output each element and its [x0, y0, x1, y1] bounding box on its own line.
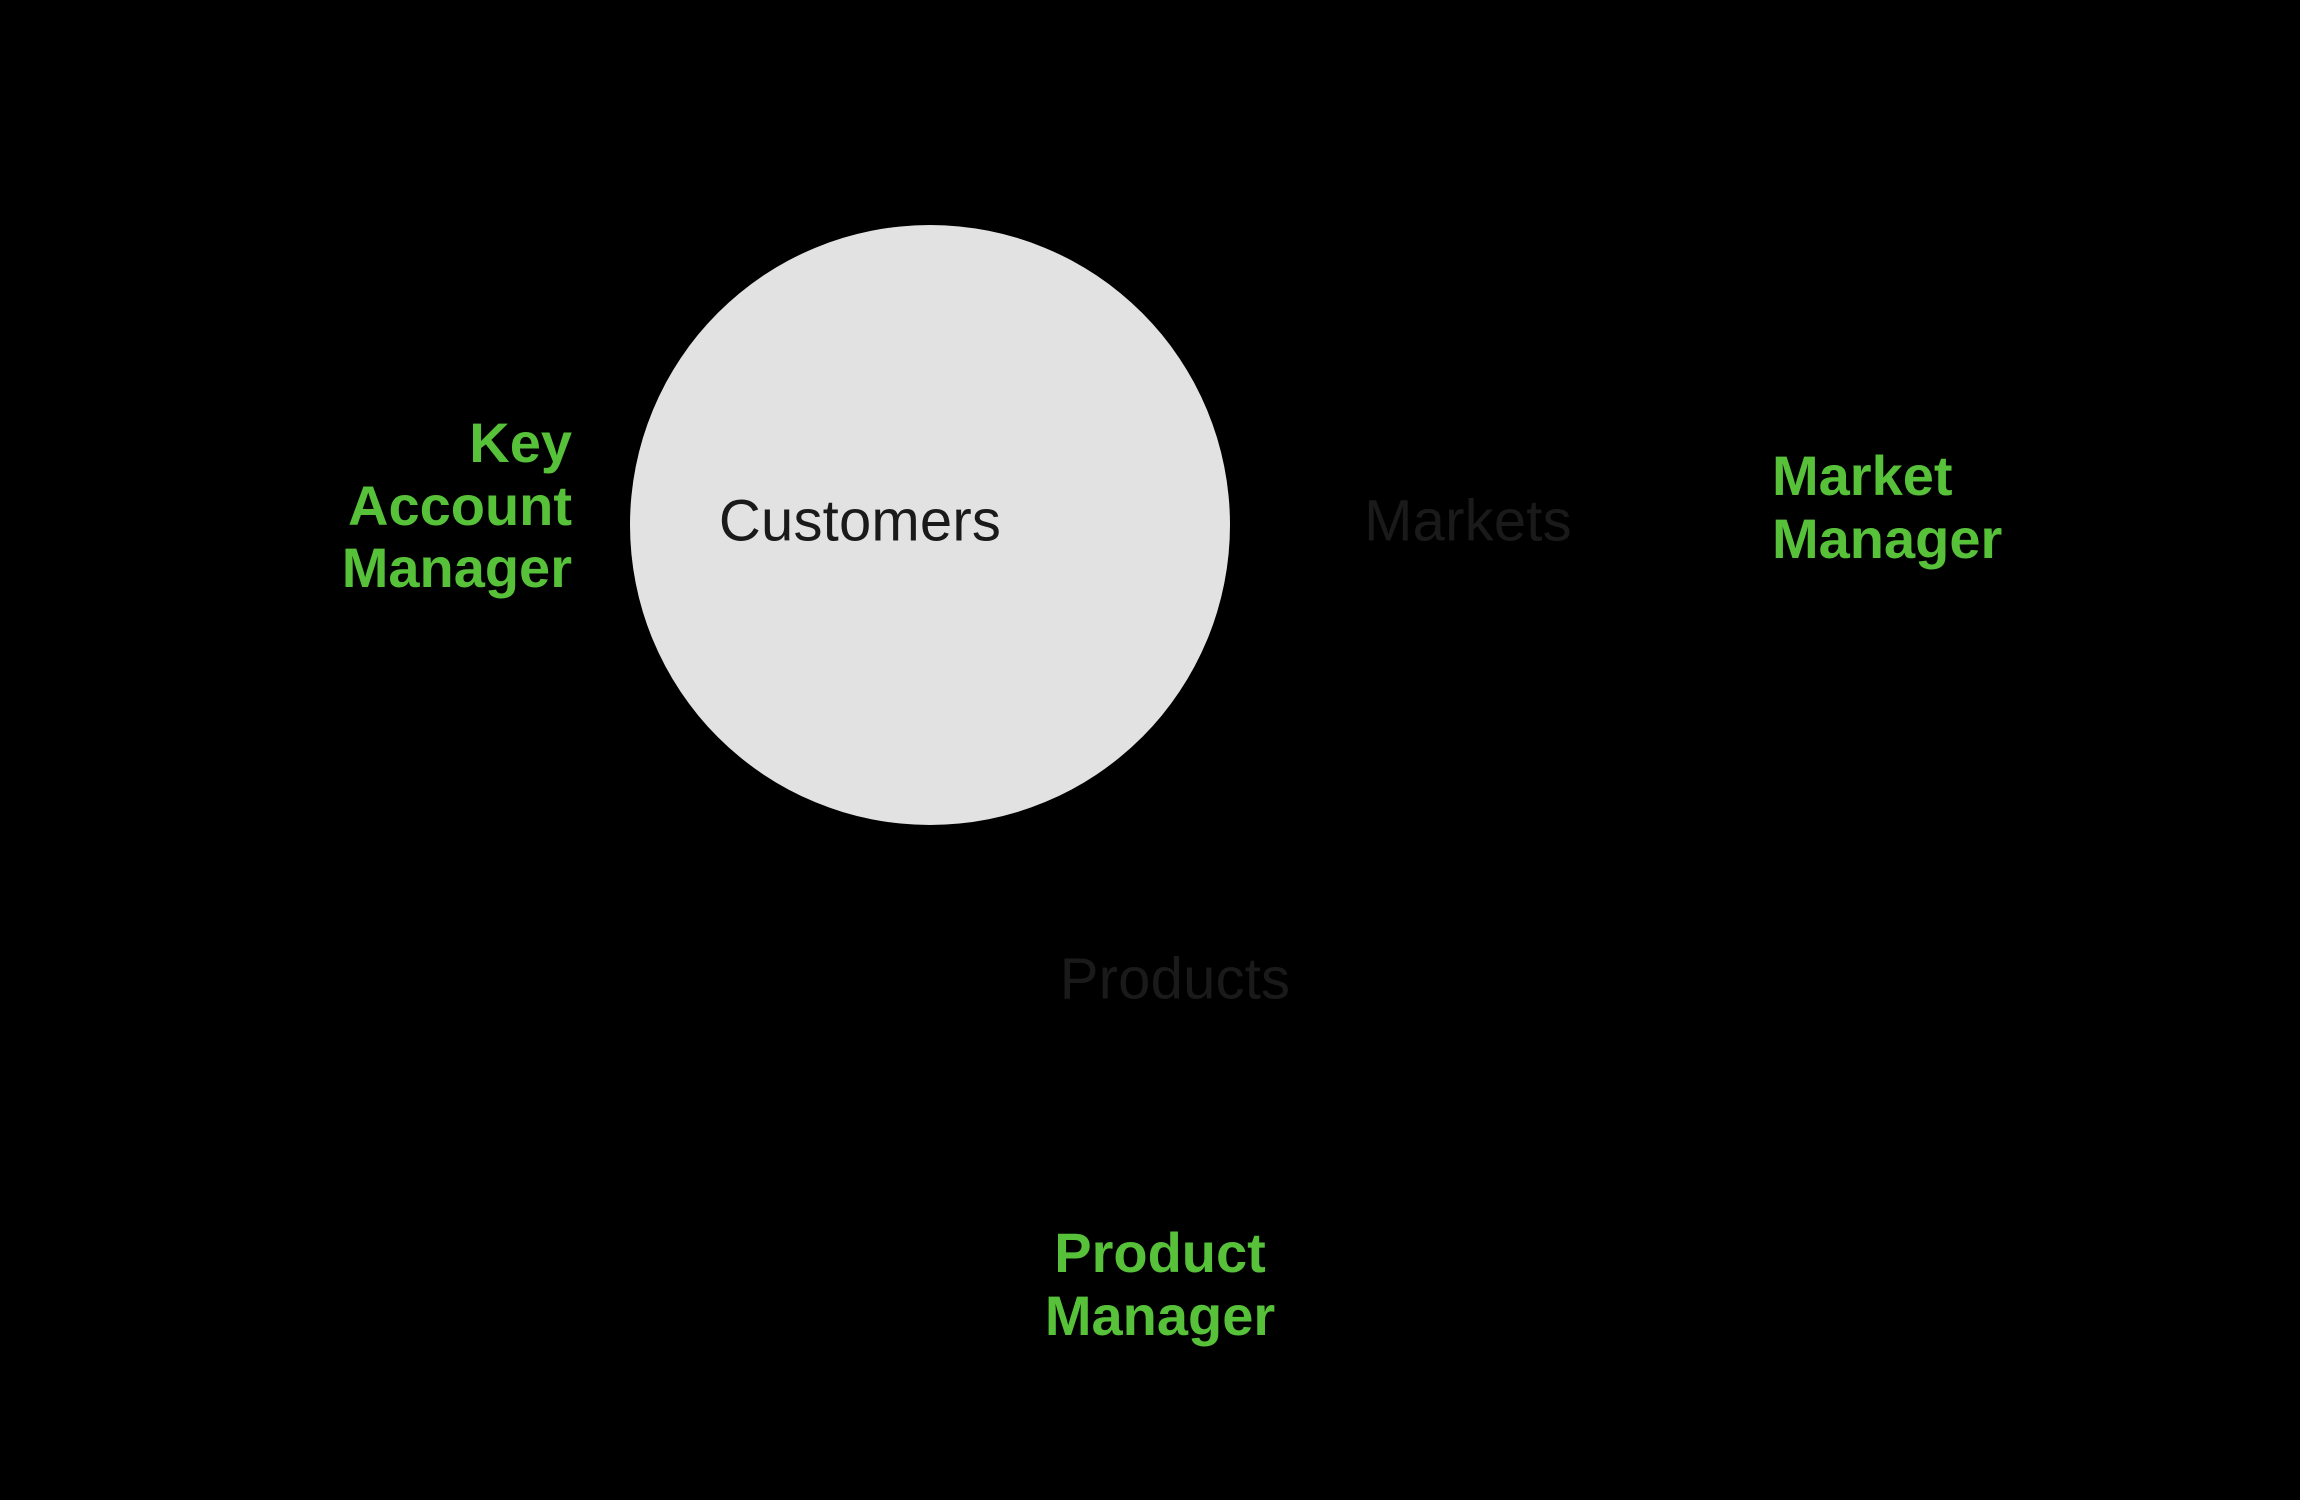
role-label-product-manager: Product Manager	[1045, 1222, 1275, 1347]
diagram-canvas: Customers Markets Products Key Account M…	[0, 0, 2300, 1500]
set-label-products: Products	[1060, 950, 1291, 1011]
role-label-market-manager: Market Manager	[1772, 445, 2002, 570]
set-label-customers: Customers	[719, 492, 1001, 553]
set-label-markets: Markets	[1364, 492, 1572, 553]
venn-circle-products[interactable]	[860, 570, 1460, 1170]
role-label-key-account-manager: Key Account Manager	[342, 412, 572, 600]
